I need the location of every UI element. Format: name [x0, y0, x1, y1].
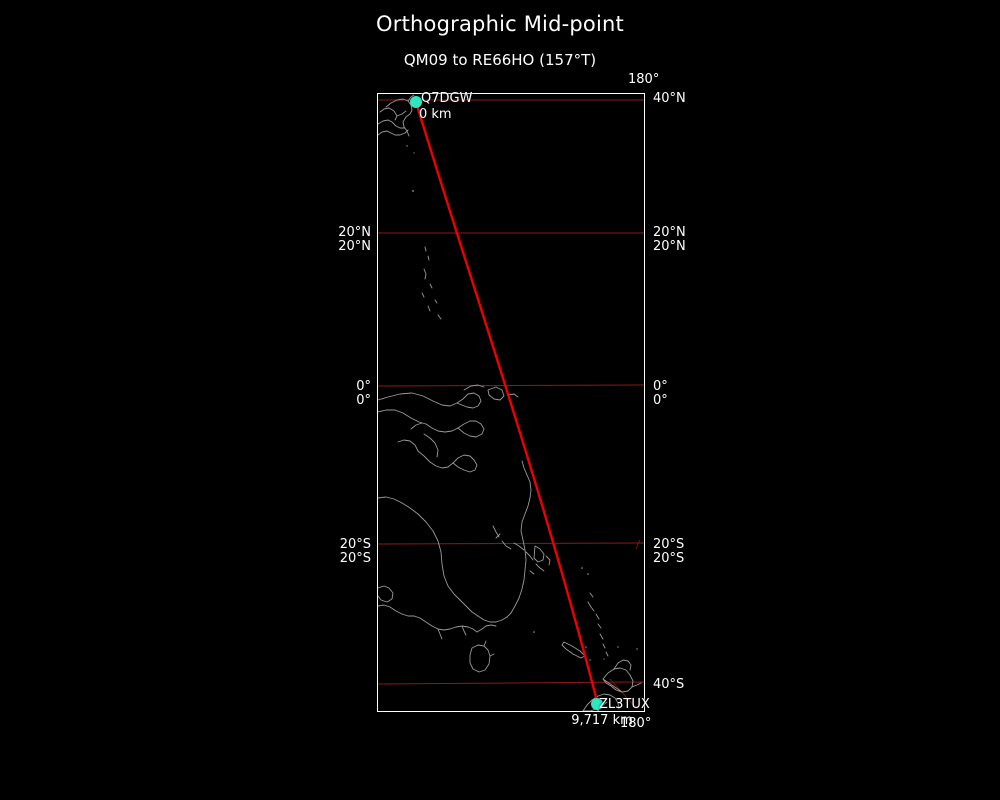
lon-tick-bottom-180: 180° [620, 716, 651, 731]
lat-tick-right-0-a: 0° [653, 379, 668, 394]
lat-tick-left-20s-b: 20°S [295, 551, 371, 566]
lat-tick-right-40n: 40°N [653, 91, 686, 106]
lat-tick-right-20s-b: 20°S [653, 551, 684, 566]
figure-canvas: Orthographic Mid-point QM09 to RE66HO (1… [0, 0, 1000, 800]
chart-subtitle: QM09 to RE66HO (157°T) [0, 51, 1000, 69]
marker-endpoint-start[interactable] [410, 96, 422, 108]
lat-tick-right-40s: 40°S [653, 677, 684, 692]
page-title: Orthographic Mid-point [0, 12, 1000, 36]
lat-tick-left-0-b: 0° [295, 393, 371, 408]
marker-endpoint-end[interactable] [591, 698, 603, 710]
map-canvas [378, 94, 644, 711]
lat-tick-right-20n-b: 20°N [653, 239, 686, 254]
lat-tick-left-0-a: 0° [295, 379, 371, 394]
lat-tick-left-20n-a: 20°N [295, 225, 371, 240]
lat-tick-left-20n-b: 20°N [295, 239, 371, 254]
lat-tick-right-20n-a: 20°N [653, 225, 686, 240]
map-axes[interactable] [377, 93, 645, 712]
lat-tick-right-20s-a: 20°S [653, 537, 684, 552]
lon-tick-top-180: 180° [628, 72, 659, 87]
lat-tick-right-0-b: 0° [653, 393, 668, 408]
lat-tick-left-20s-a: 20°S [295, 537, 371, 552]
